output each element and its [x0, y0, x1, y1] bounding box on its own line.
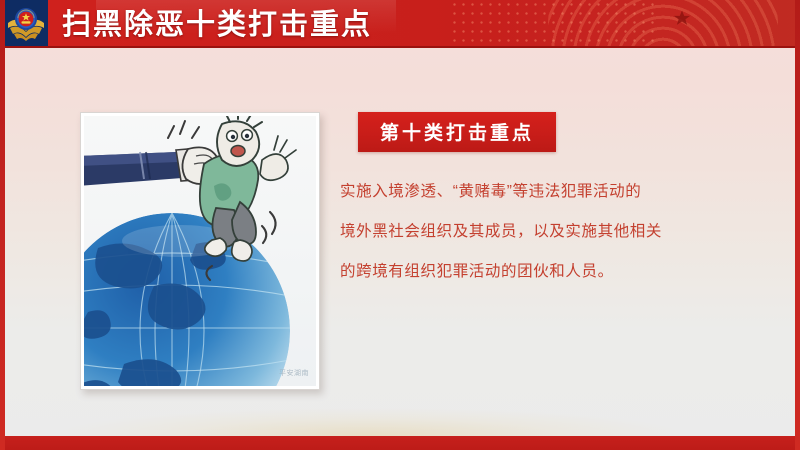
cross-border-crime-crackdown-illustration: 平安湖南 — [84, 116, 316, 386]
illustration-frame: 平安湖南 — [80, 112, 320, 390]
left-edge-border — [0, 0, 5, 450]
body-text-block: 实施入境渗透、“黄赌毒”等违法犯罪活动的 境外黑社会组织及其成员，以及实施其他相… — [340, 172, 750, 292]
body-line: 境外黑社会组织及其成员，以及实施其他相关 — [340, 212, 750, 252]
header-dot-pattern — [450, 0, 660, 48]
section-banner-label: 第十类打击重点 — [358, 112, 556, 152]
slide-footer-bar — [0, 436, 800, 450]
right-edge-border — [795, 0, 800, 450]
header-ray-burst — [548, 0, 778, 48]
slide-canvas: 扫黑除恶十类打击重点 — [0, 0, 800, 450]
police-badge-icon — [5, 4, 47, 44]
body-line: 实施入境渗透、“黄赌毒”等违法犯罪活动的 — [340, 172, 750, 212]
illustration-watermark: 平安湖南 — [279, 368, 309, 378]
content-column: 第十类打击重点 实施入境渗透、“黄赌毒”等违法犯罪活动的 境外黑社会组织及其成员… — [340, 112, 750, 292]
footer-glow — [60, 408, 680, 436]
page-title: 扫黑除恶十类打击重点 — [62, 2, 372, 48]
body-line: 的跨境有组织犯罪活动的团伙和人员。 — [340, 252, 750, 292]
